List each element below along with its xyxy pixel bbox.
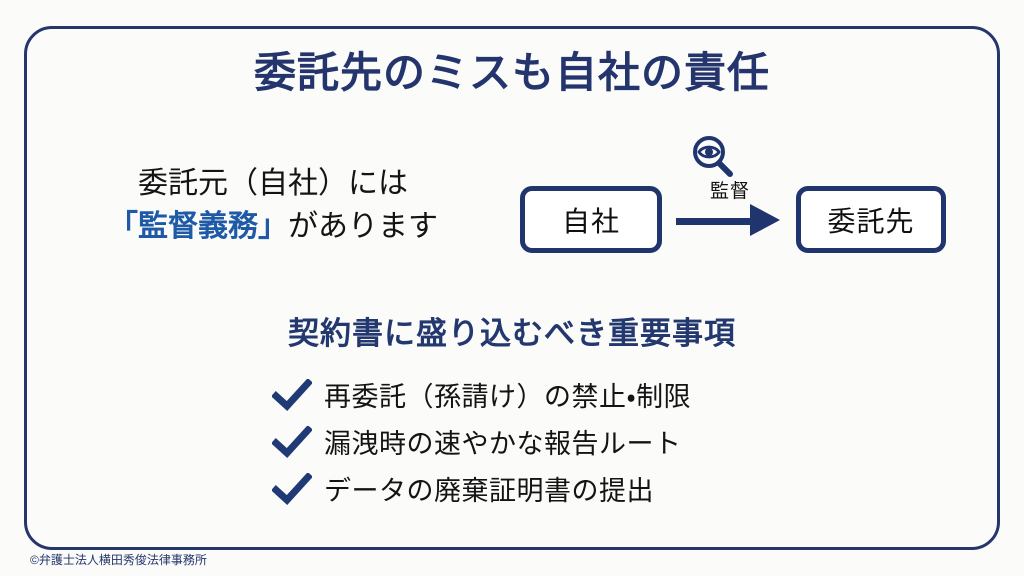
arrow-head (750, 204, 780, 236)
diagram-node-vendor: 委託先 (796, 186, 946, 253)
diagram-relation-label: 監督 (670, 176, 790, 203)
list-item-label: 再委託（孫請け）の禁止・制限 (324, 375, 691, 414)
page-title: 委託先のミスも自社の責任 (0, 48, 1024, 98)
section-heading: 契約書に盛り込むべき重要事項 (0, 308, 1024, 353)
check-icon (272, 473, 312, 505)
lead-line-1: 委託元（自社）には (58, 163, 488, 206)
diagram-node-self: 自社 (520, 186, 662, 253)
eye-magnifier-icon (690, 134, 736, 180)
supervision-flow-diagram: 自社 監督 委託先 (512, 128, 972, 273)
list-item: 漏洩時の速やかな報告ルート (272, 419, 832, 464)
contract-checklist: 再委託（孫請け）の禁止・制限 漏洩時の速やかな報告ルート データの廃棄証明書の提… (272, 372, 832, 513)
lead-accent-term: 「監督義務」 (108, 210, 288, 243)
list-item-label: 漏洩時の速やかな報告ルート (324, 422, 682, 461)
diagram-node-vendor-label: 委託先 (827, 200, 914, 240)
lead-statement: 委託元（自社）には 「監督義務」があります (58, 163, 488, 248)
lead-line-2: 「監督義務」があります (58, 206, 488, 249)
arrow-shaft (676, 218, 758, 225)
check-icon (272, 379, 312, 411)
copyright-credit: ©弁護士法人横田秀俊法律事務所 (30, 551, 207, 568)
lead-line-2-rest: があります (288, 210, 438, 243)
list-item: データの廃棄証明書の提出 (272, 466, 832, 511)
slide-root: 委託先のミスも自社の責任 委託元（自社）には 「監督義務」があります 自社 監督… (0, 0, 1024, 576)
list-item-label: データの廃棄証明書の提出 (324, 469, 654, 508)
diagram-node-self-label: 自社 (562, 200, 620, 240)
list-item: 再委託（孫請け）の禁止・制限 (272, 372, 832, 417)
diagram-arrow (676, 212, 788, 230)
check-icon (272, 426, 312, 458)
